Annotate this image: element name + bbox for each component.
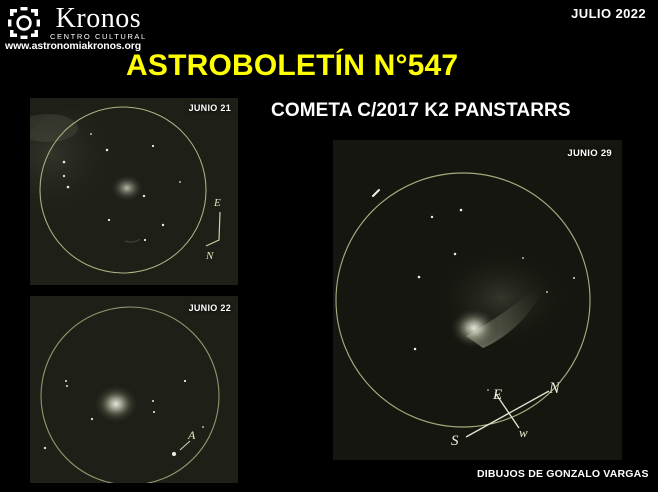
svg-text:w: w xyxy=(519,425,528,440)
svg-text:N: N xyxy=(548,380,561,397)
sketch-panel-jun22[interactable]: A JUNIO 22 xyxy=(30,296,238,483)
issue-date: JULIO 2022 xyxy=(571,6,646,21)
panel-date-jun29: JUNIO 29 xyxy=(567,148,612,159)
kronos-stepped-sun-icon xyxy=(4,3,44,43)
svg-text:A: A xyxy=(187,428,196,442)
kronos-logo: Kronos CENTRO CULTURAL xyxy=(4,2,176,44)
svg-text:N: N xyxy=(205,250,214,262)
sketch-panel-jun29[interactable]: E N S w JUNIO 29 xyxy=(333,140,622,460)
svg-text:E: E xyxy=(492,387,502,403)
sketch-panel-jun21[interactable]: E N JUNIO 21 xyxy=(30,98,238,285)
logo-name: Kronos xyxy=(56,5,141,32)
astroboletin-slide: Kronos CENTRO CULTURAL www.astronomiakro… xyxy=(0,0,658,492)
page-title: ASTROBOLETÍN N°547 xyxy=(126,49,458,83)
sketch-drawing-jun22: A xyxy=(30,296,238,483)
drawings-credit: DIBUJOS DE GONZALO VARGAS xyxy=(477,468,649,480)
svg-text:S: S xyxy=(451,433,459,449)
panel-date-jun21: JUNIO 21 xyxy=(189,103,231,113)
svg-text:E: E xyxy=(213,197,221,209)
kronos-wordmark: Kronos CENTRO CULTURAL xyxy=(50,5,147,42)
panel-date-jun22: JUNIO 22 xyxy=(189,303,231,313)
page-subtitle: COMETA C/2017 K2 PANSTARRS xyxy=(271,100,571,122)
sketch-drawing-jun29: E N S w xyxy=(333,140,622,460)
sketch-drawing-jun21: E N xyxy=(30,98,238,285)
website-url[interactable]: www.astronomiakronos.org xyxy=(5,40,141,52)
